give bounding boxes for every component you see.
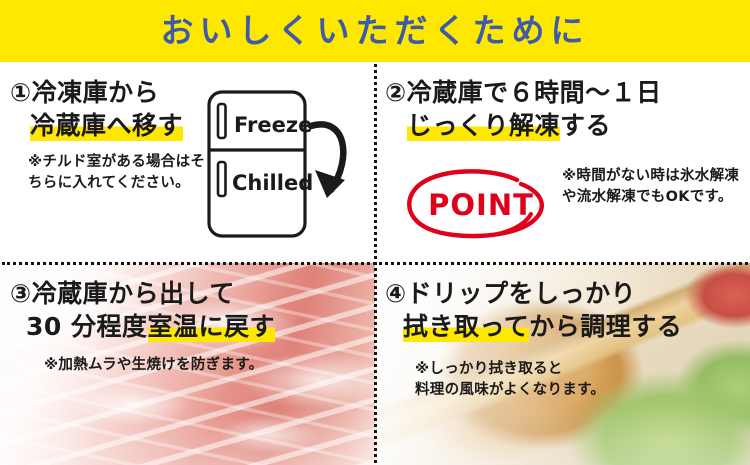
panel-4-heading-highlight: 拭き取って [403,312,529,342]
panel-4-note-line-1: ※しっかり拭き取ると [415,359,740,380]
panel-3-heading-prefix: 30 分程度 [26,312,148,341]
panel-1-heading-highlight: 冷蔵庫へ移す [30,111,183,141]
panel-4-note-line-2: 料理の風味がよくなります。 [415,380,740,401]
point-badge-label: POINT [397,167,565,243]
point-badge: POINT [399,166,567,242]
panel-step-3: ③冷蔵庫から出して 30 分程度室温に戻す ※加熱ムラや生焼けを防ぎます。 [0,263,375,465]
panel-step-2: ②冷蔵庫で６時間〜１日 じっくり解凍する ※時間がない時は氷水解凍や流水解凍でも… [375,62,750,263]
panel-2-heading-line-1: ②冷蔵庫で６時間〜１日 [385,76,740,109]
panel-4-body: ④ドリップをしっかり 拭き取ってから調理する ※しっかり拭き取ると 料理の風味が… [375,263,750,465]
panel-3-body: ③冷蔵庫から出して 30 分程度室温に戻す ※加熱ムラや生焼けを防ぎます。 [0,263,375,465]
infographic-root: おいしくいただくために ①冷凍庫から 冷蔵庫へ移す ※チルド室がある場合はそちら… [0,0,750,465]
panel-1-note: ※チルド室がある場合はそちらに入れてください。 [28,152,218,193]
panel-4-heading-line-2: 拭き取ってから調理する [403,310,740,343]
fridge-label-chilled: Chilled [232,171,313,195]
panel-4-heading-line-1: ④ドリップをしっかり [385,277,740,310]
fridge-handle-top [218,104,226,138]
panel-2-heading-line-2: じっくり解凍する [407,109,740,142]
panel-3-heading-highlight: 室温に戻す [148,312,276,342]
panel-2-note: ※時間がない時は氷水解凍や流水解凍でもOKです。 [562,166,740,207]
fridge-handle-bottom [218,162,226,196]
header-banner: おいしくいただくために [0,0,750,62]
panel-4-heading-suffix: から調理する [529,312,682,341]
fridge-label-freeze: Freeze [234,113,312,137]
panel-3-heading-line-2: 30 分程度室温に戻す [26,310,365,343]
panel-2-heading-suffix: する [560,111,611,140]
panel-2-heading-highlight: じっくり解凍 [407,111,560,141]
panel-step-1: ①冷凍庫から 冷蔵庫へ移す ※チルド室がある場合はそちらに入れてください。 Fr… [0,62,375,263]
panel-3-note: ※加熱ムラや生焼けを防ぎます。 [44,355,365,376]
refrigerator-icon: Freeze Chilled [203,84,363,244]
panel-3-heading-line-1: ③冷蔵庫から出して [10,277,365,310]
panel-step-4: ④ドリップをしっかり 拭き取ってから調理する ※しっかり拭き取ると 料理の風味が… [375,263,750,465]
page-title: おいしくいただくために [161,14,590,47]
horizontal-divider [2,262,748,265]
refrigerator-illustration: Freeze Chilled [203,84,363,244]
panel-4-note: ※しっかり拭き取ると 料理の風味がよくなります。 [415,359,740,400]
